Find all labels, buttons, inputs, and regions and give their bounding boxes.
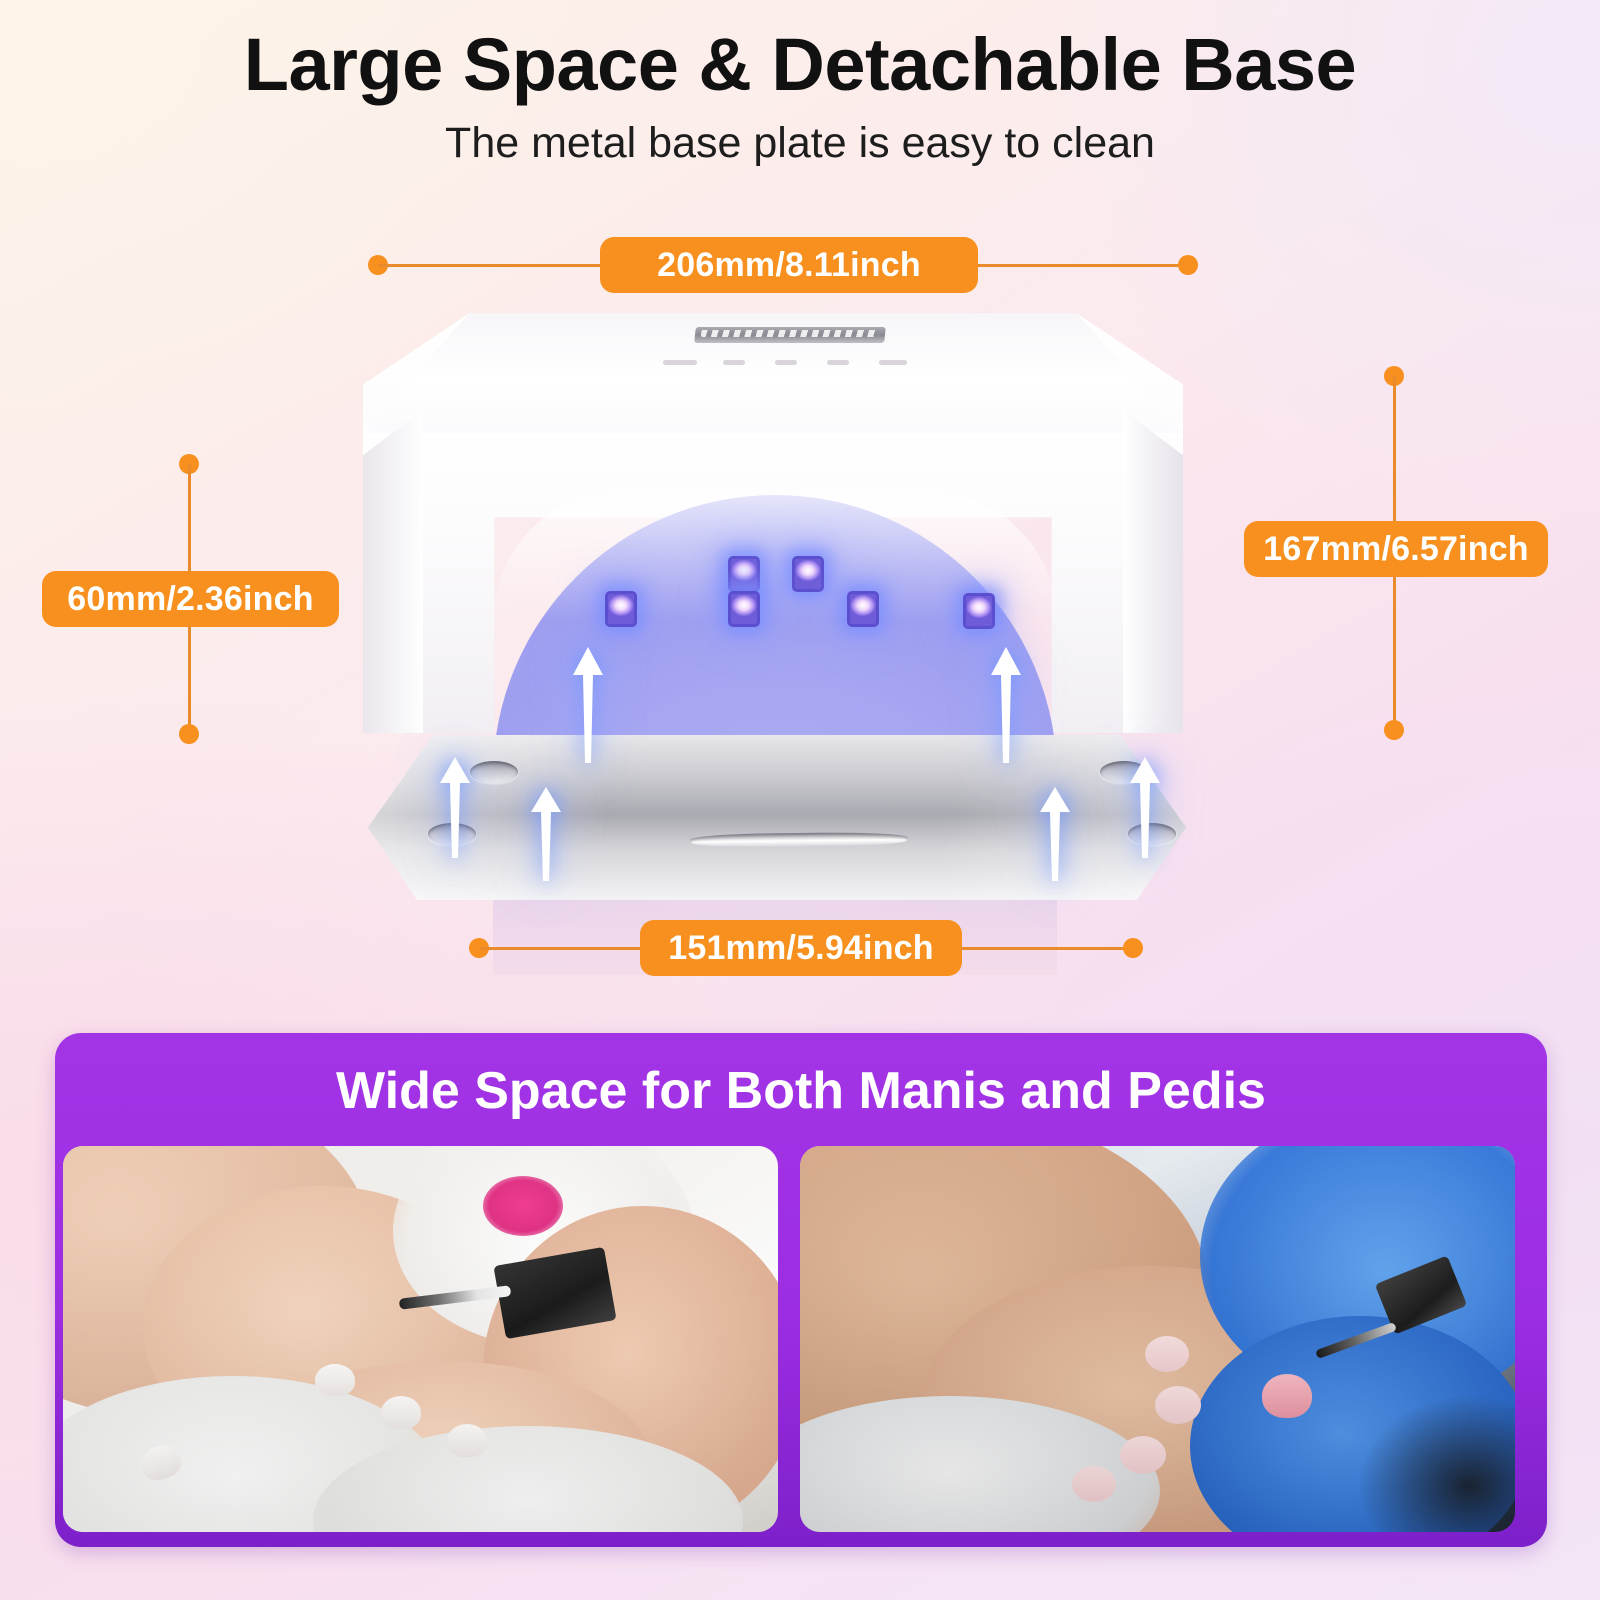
feature-banner-title: Wide Space for Both Manis and Pedis (55, 1061, 1547, 1121)
light-direction-arrow (1037, 785, 1073, 883)
light-direction-arrow (1127, 755, 1163, 860)
dimension-badge-width-bottom: 151mm/5.94inch (640, 920, 962, 976)
dimension-badge-width-top: 206mm/8.11inch (600, 237, 978, 293)
manicure-photo (63, 1146, 778, 1532)
led-chip (728, 556, 760, 592)
infographic-page: Large Space & Detachable Base The metal … (0, 0, 1600, 1600)
led-chip (963, 593, 995, 629)
led-chip (728, 591, 760, 627)
lamp-right-edge (1123, 410, 1183, 733)
dimension-badge-height-left: 60mm/2.36inch (42, 571, 339, 627)
control-display[interactable] (694, 327, 886, 343)
dimension-badge-depth-right: 167mm/6.57inch (1244, 521, 1548, 577)
control-button-mark[interactable] (723, 360, 745, 365)
dimension-endpoint-dot (1178, 255, 1198, 275)
header: Large Space & Detachable Base The metal … (0, 26, 1600, 167)
led-chip (792, 556, 824, 592)
light-direction-arrow (988, 645, 1024, 765)
led-chip (847, 591, 879, 627)
page-title: Large Space & Detachable Base (0, 26, 1600, 104)
control-button-mark[interactable] (827, 360, 849, 365)
lamp-left-edge (363, 410, 423, 733)
light-direction-arrow (437, 755, 473, 860)
dimension-endpoint-dot (179, 724, 199, 744)
led-chip (605, 591, 637, 627)
control-button-mark[interactable] (879, 360, 907, 365)
dimension-endpoint-dot (1123, 938, 1143, 958)
control-button-mark[interactable] (775, 360, 797, 365)
dimension-endpoint-dot (1384, 720, 1404, 740)
light-direction-arrow (570, 645, 606, 765)
control-button-mark[interactable] (663, 360, 697, 365)
base-plate-hole (470, 761, 518, 783)
pedicure-photo (800, 1146, 1515, 1532)
light-direction-arrow (528, 785, 564, 883)
page-subtitle: The metal base plate is easy to clean (0, 120, 1600, 167)
